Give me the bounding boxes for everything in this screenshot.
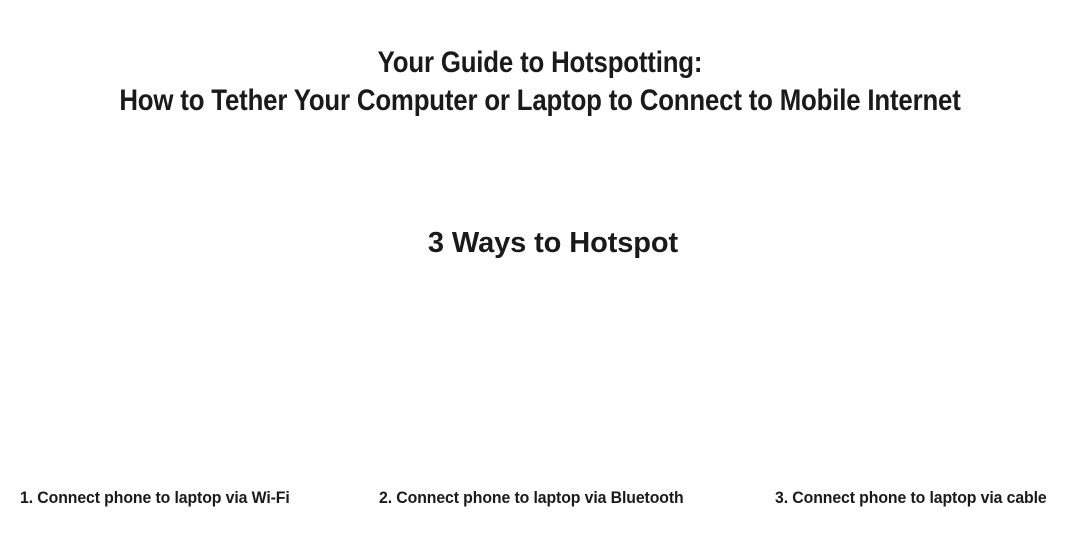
step-caption-wifi: 1. Connect phone to laptop via Wi-Fi <box>20 486 290 510</box>
illustration-slot-cable <box>740 288 1080 478</box>
page-title: Your Guide to Hotspotting: How to Tether… <box>0 44 1080 120</box>
infographic-page: Your Guide to Hotspotting: How to Tether… <box>0 0 1080 552</box>
title-line-1: Your Guide to Hotspotting: <box>76 44 1005 82</box>
step-caption-cable: 3. Connect phone to laptop via cable <box>775 486 1047 510</box>
step-caption-bluetooth: 2. Connect phone to laptop via Bluetooth <box>379 486 684 510</box>
section-heading: 3 Ways to Hotspot <box>0 224 1080 262</box>
title-line-2: How to Tether Your Computer or Laptop to… <box>76 82 1005 120</box>
illustration-slot-wifi <box>0 288 340 478</box>
illustration-row <box>0 288 1080 478</box>
illustration-slot-bluetooth <box>370 288 710 478</box>
section-heading-label: 3 Ways to Hotspot <box>428 224 678 262</box>
caption-row: 1. Connect phone to laptop via Wi-Fi 2. … <box>0 486 1080 516</box>
